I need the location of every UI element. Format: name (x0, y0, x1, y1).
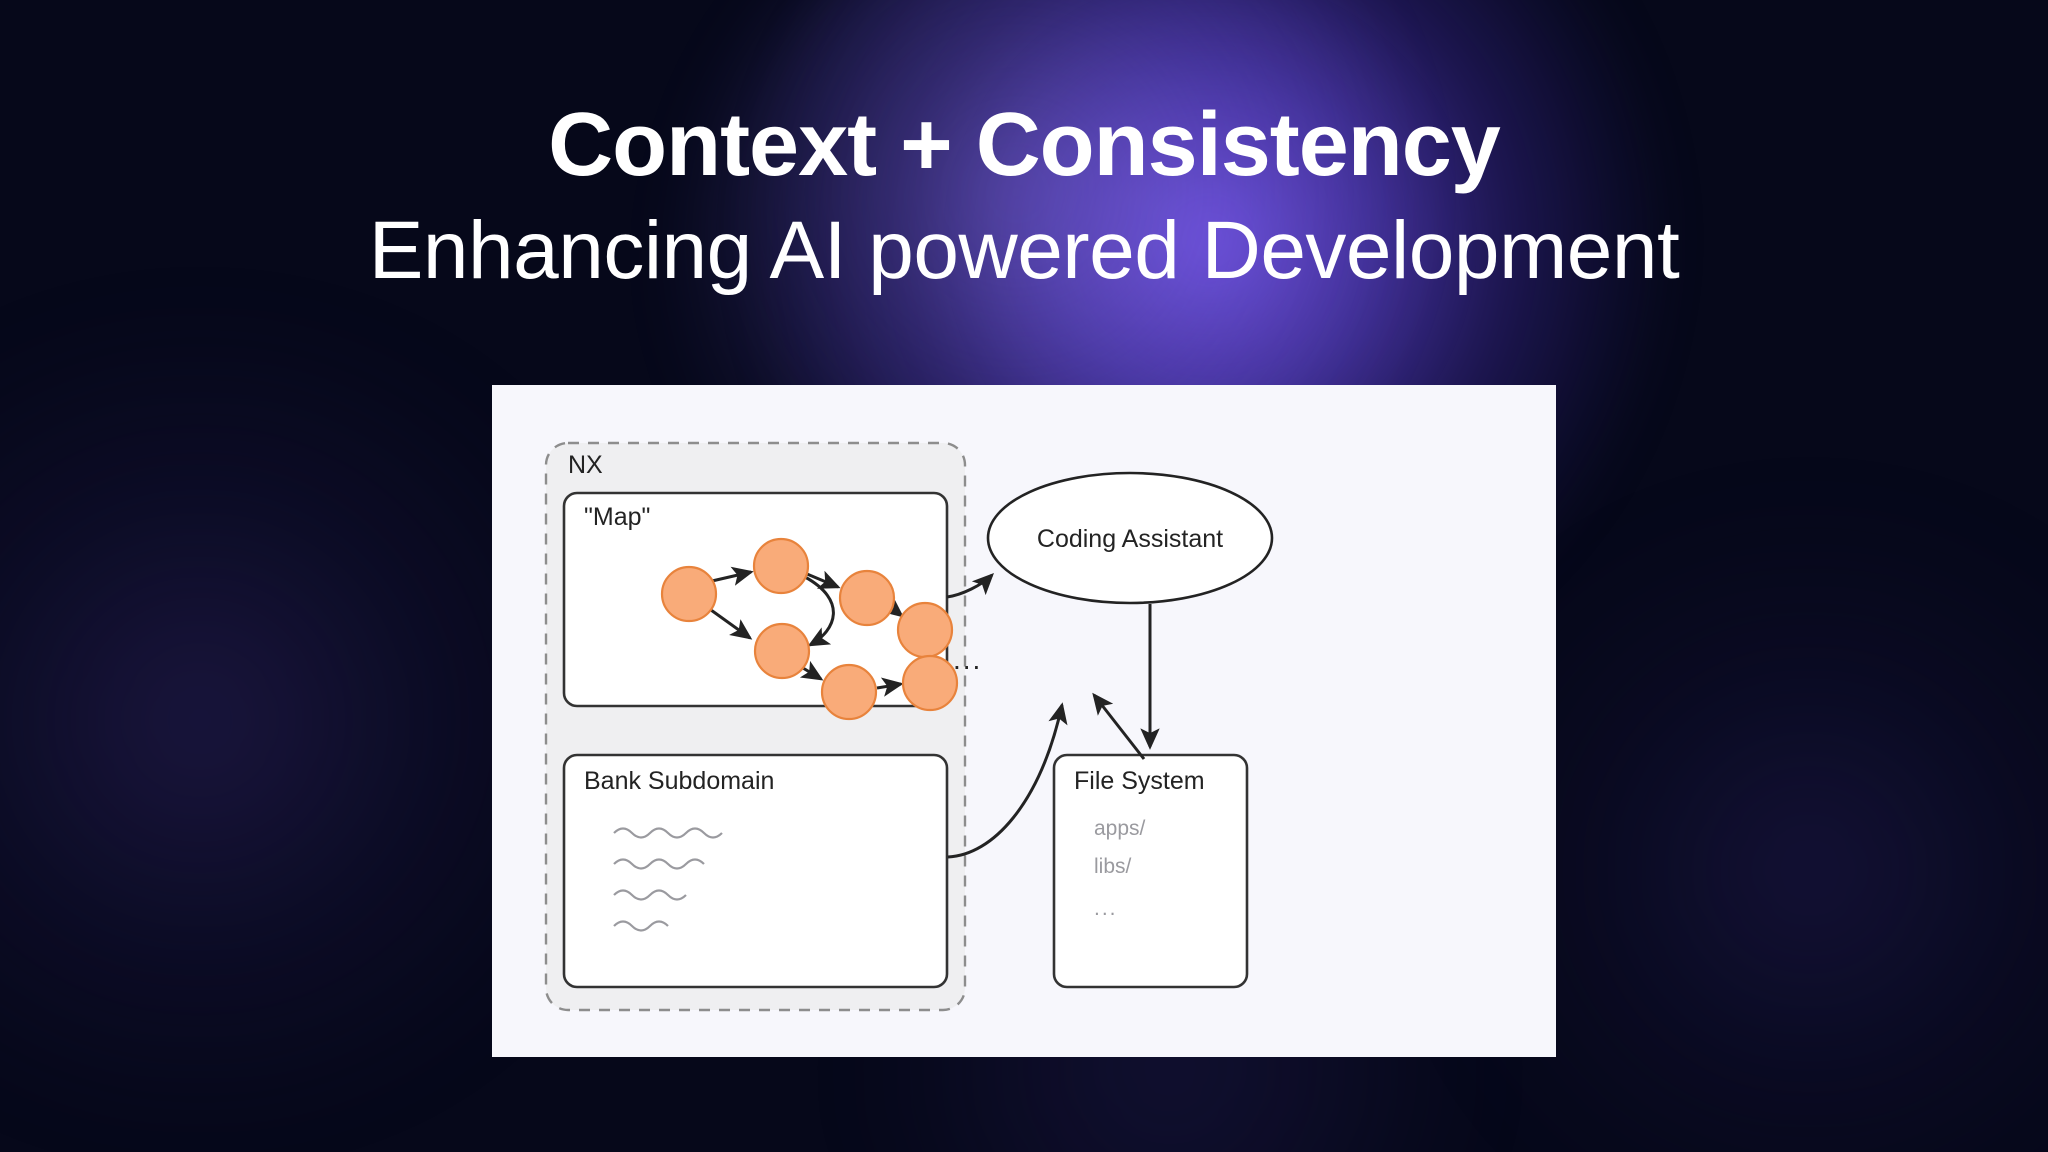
diagram-panel: NX "Map" (492, 385, 1556, 1057)
nx-label: NX (568, 451, 603, 479)
file-system-entry-apps: apps/ (1094, 817, 1146, 840)
bank-subdomain-label: Bank Subdomain (584, 767, 774, 795)
graph-node-3 (840, 571, 894, 625)
graph-node-4 (755, 624, 809, 678)
graph-node-1 (662, 567, 716, 621)
map-box-label: "Map" (584, 503, 650, 531)
coding-assistant-label: Coding Assistant (1037, 525, 1223, 553)
map-box[interactable]: "Map" (564, 493, 957, 719)
graph-node-6 (822, 665, 876, 719)
slide-root: Context + Consistency Enhancing AI power… (0, 0, 2048, 1152)
connector-filesystem-to-assistant (1094, 695, 1144, 759)
coding-assistant-node[interactable]: Coding Assistant (988, 473, 1272, 603)
file-system-label: File System (1074, 767, 1205, 795)
slide-title: Context + Consistency (0, 98, 2048, 193)
file-system-entry-more: ... (1094, 897, 1118, 920)
graph-node-7 (903, 656, 957, 710)
architecture-diagram: NX "Map" (492, 385, 1556, 1057)
bank-subdomain-box[interactable]: Bank Subdomain (564, 755, 947, 987)
file-system-box[interactable]: File System apps/ libs/ ... (1054, 755, 1247, 987)
graph-node-5 (898, 603, 952, 657)
slide-subtitle: Enhancing AI powered Development (0, 208, 2048, 294)
graph-node-2 (754, 539, 808, 593)
file-system-entry-libs: libs/ (1094, 855, 1132, 878)
map-ellipsis: ... (953, 644, 982, 675)
